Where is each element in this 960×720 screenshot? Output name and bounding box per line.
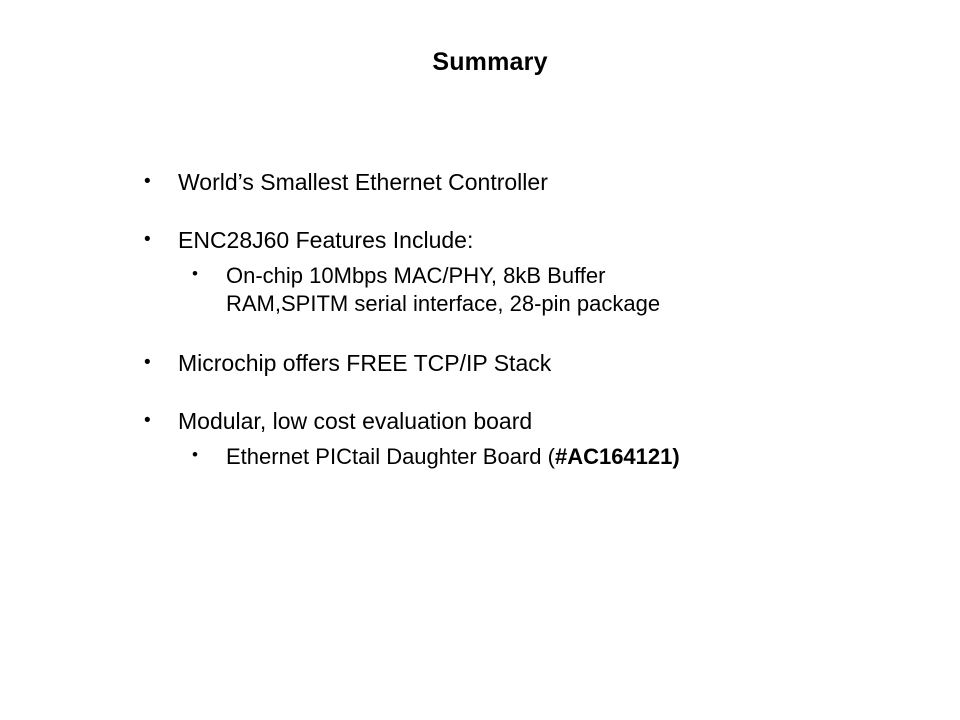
list-item-label: Modular, low cost evaluation board [178,407,840,437]
sub-list-item-line-2: RAM,SPITM serial interface, 28-pin packa… [226,291,660,316]
bullet-list: • World’s Smallest Ethernet Controller •… [140,168,840,471]
list-item: • ENC28J60 Features Include: [140,226,840,256]
bullet-marker-icon: • [140,407,178,435]
part-number: #AC164121) [555,444,680,469]
bullet-marker-icon: • [140,168,178,196]
bullet-marker-icon: • [140,226,178,254]
list-item: • Modular, low cost evaluation board [140,407,840,437]
sub-list-item-text: Ethernet PICtail Daughter Board ( [226,444,555,469]
sub-list-item: • Ethernet PICtail Daughter Board (#AC16… [188,443,840,472]
bullet-marker-icon: • [140,349,178,377]
sub-list-item-label: On-chip 10Mbps MAC/PHY, 8kB Buffer RAM,S… [226,262,840,319]
list-item-label: World’s Smallest Ethernet Controller [178,168,840,198]
list-item: • World’s Smallest Ethernet Controller [140,168,840,198]
sub-list-item: • On-chip 10Mbps MAC/PHY, 8kB Buffer RAM… [188,262,840,319]
slide-canvas: Summary • World’s Smallest Ethernet Cont… [0,0,960,720]
list-item: • Microchip offers FREE TCP/IP Stack [140,349,840,379]
list-item-label: ENC28J60 Features Include: [178,226,840,256]
bullet-marker-icon: • [188,262,226,287]
bullet-marker-icon: • [188,443,226,468]
page-title: Summary [60,48,920,77]
list-item-label: Microchip offers FREE TCP/IP Stack [178,349,840,379]
sub-list-item-label: Ethernet PICtail Daughter Board (#AC1641… [226,443,840,472]
sub-list-item-line-1: On-chip 10Mbps MAC/PHY, 8kB Buffer [226,263,605,288]
